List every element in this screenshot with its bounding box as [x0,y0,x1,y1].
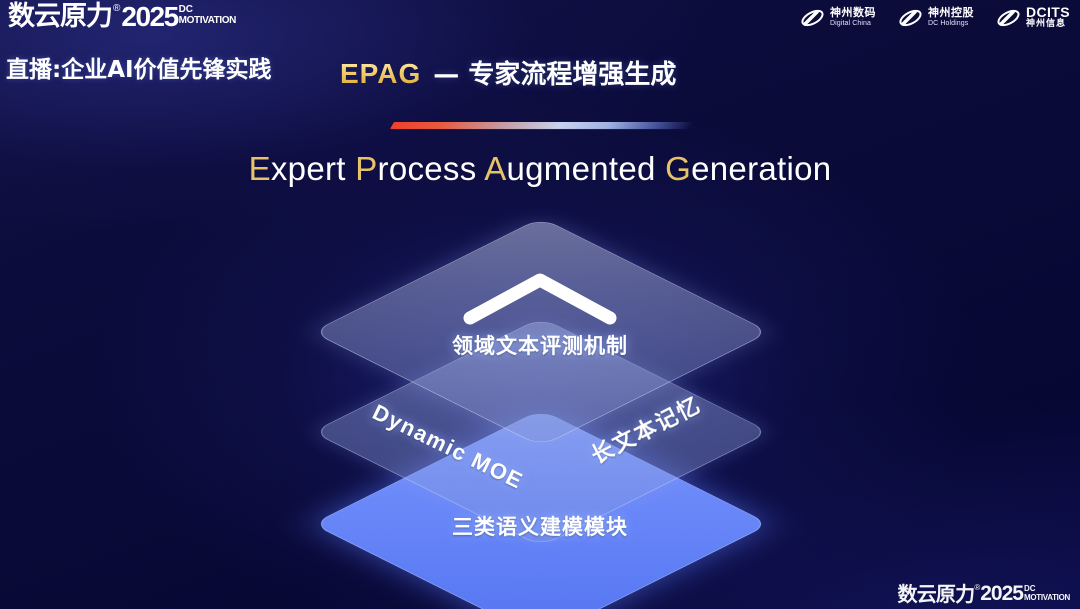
subtitle-word-augmented: Augmented [484,150,665,187]
watermark-dc-line2: MOTIVATION [1024,593,1070,602]
watermark-chinese: 数云原力 [898,583,975,605]
diagram-label-top: 领域文本评测机制 [0,330,1080,360]
swoosh-logo-icon [898,7,923,29]
subtitle-word-generation: Generation [665,150,831,187]
brandmark-dc-motivation: DC MOTIVATION [179,5,236,26]
footer-watermark: 数云原力 ® 2025 DC MOTIVATION [898,583,1070,605]
swoosh-logo-icon [996,7,1021,29]
logo-cn-dc-holdings: 神州控股 [928,7,974,19]
logo-text-digital-china: 神州数码 Digital China [830,7,876,28]
logo-digital-china: 神州数码 Digital China [800,7,876,29]
logo-en-dc-holdings: DC Holdings [928,19,974,28]
brandmark-chinese: 数云原力 [8,2,112,32]
diagram-label-bottom: 三类语义建模模块 [0,511,1080,541]
logo-text-dc-holdings: 神州控股 DC Holdings [928,7,974,28]
title-chinese: — 专家流程增强生成 [433,54,676,91]
brandmark-dc-line1: DC [179,5,236,15]
logo-dc-holdings: 神州控股 DC Holdings [898,7,974,29]
swoosh-logo-icon [800,7,825,29]
page-title: EPAG — 专家流程增强生成 [340,54,676,91]
logo-en-digital-china: Digital China [830,19,876,28]
logo-dcits: DCITS 神州信息 [996,5,1070,30]
live-session-title: 直播:企业AI价值先锋实践 [6,50,272,84]
brandmark-year: 2025 [121,2,177,32]
slide-canvas: 数云原力 ® 2025 DC MOTIVATION 直播:企业AI价值先锋实践 … [0,0,1080,609]
title-acronym: EPAG [340,58,421,90]
watermark-dc-line1: DC [1024,585,1070,593]
title-divider [390,122,694,129]
watermark-dc-motivation: DC MOTIVATION [1024,585,1070,602]
brandmark-registered-mark: ® [113,2,120,16]
logo-cn-dcits: 神州信息 [1026,19,1070,30]
logo-text-dcits: DCITS 神州信息 [1026,5,1070,30]
subtitle-word-expert: Expert [249,150,356,187]
logo-cn-digital-china: 神州数码 [830,7,876,19]
chevron-up-icon [462,270,618,326]
subtitle-word-process: Process [355,150,484,187]
header-brandmark: 数云原力 ® 2025 DC MOTIVATION [8,2,236,32]
logo-en-dcits: DCITS [1026,5,1070,19]
brandmark-dc-line2: MOTIVATION [179,15,236,26]
page-subtitle: Expert Process Augmented Generation [0,150,1080,188]
watermark-year: 2025 [980,583,1023,605]
partner-logo-bar: 神州数码 Digital China 神州控股 DC Holdings [800,5,1070,30]
